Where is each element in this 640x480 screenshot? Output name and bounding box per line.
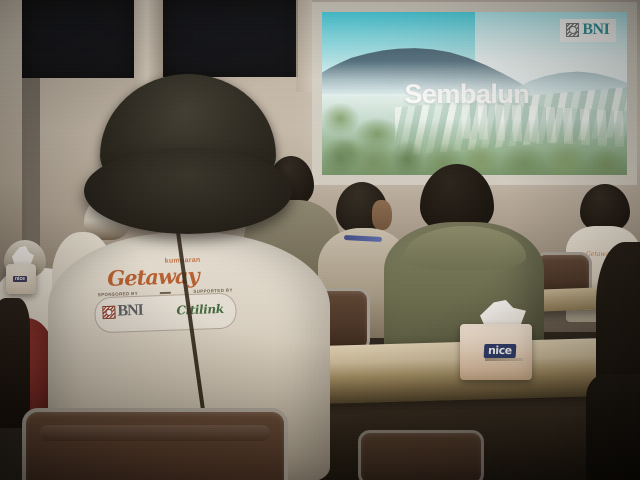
photo-scene: Sembalun BNI Getaway nice — [0, 0, 640, 480]
tissue-brand-label-left: nice — [13, 276, 27, 282]
tshirt-bni-logo: BNI — [102, 303, 143, 320]
attendee-face-lanyard — [372, 200, 392, 230]
slide-foliage-foreground — [322, 120, 627, 175]
supported-by-label: SUPPORTED BY — [193, 288, 233, 294]
tissue-brand-label-front: nice — [484, 344, 516, 358]
sponsor-divider — [160, 291, 171, 293]
wall-column — [134, 0, 163, 88]
tshirt-bni-label: BNI — [117, 303, 143, 320]
tissue-brand-underline — [485, 358, 523, 361]
tissue-box-left: nice — [6, 246, 40, 294]
window-panel-right — [163, 0, 298, 77]
dark-figure-left — [0, 298, 30, 428]
bni-diamond-icon — [566, 23, 579, 37]
tshirt-citilink-label: Citilink — [176, 302, 224, 318]
attendee-foreground-right-lower — [586, 374, 640, 480]
tissue-box-front: nice — [460, 300, 538, 380]
slide-brand-logo-text: BNI — [582, 22, 609, 38]
chair-foreground — [22, 408, 288, 480]
chair-under-table — [358, 430, 484, 480]
tshirt-print-foreground: Getaway kumparan SPONSORED BY SUPPORTED … — [87, 255, 240, 340]
wall-column-secondary — [296, 0, 312, 92]
bucket-hat-brim — [84, 148, 292, 234]
slide-brand-logo: BNI — [560, 19, 616, 42]
slide-title: Sembalun — [404, 79, 529, 110]
presentation-slide: Sembalun BNI — [322, 12, 627, 175]
bni-diamond-icon — [102, 305, 115, 318]
projection-screen: Sembalun BNI — [312, 2, 637, 185]
window-panel-left — [22, 0, 134, 78]
